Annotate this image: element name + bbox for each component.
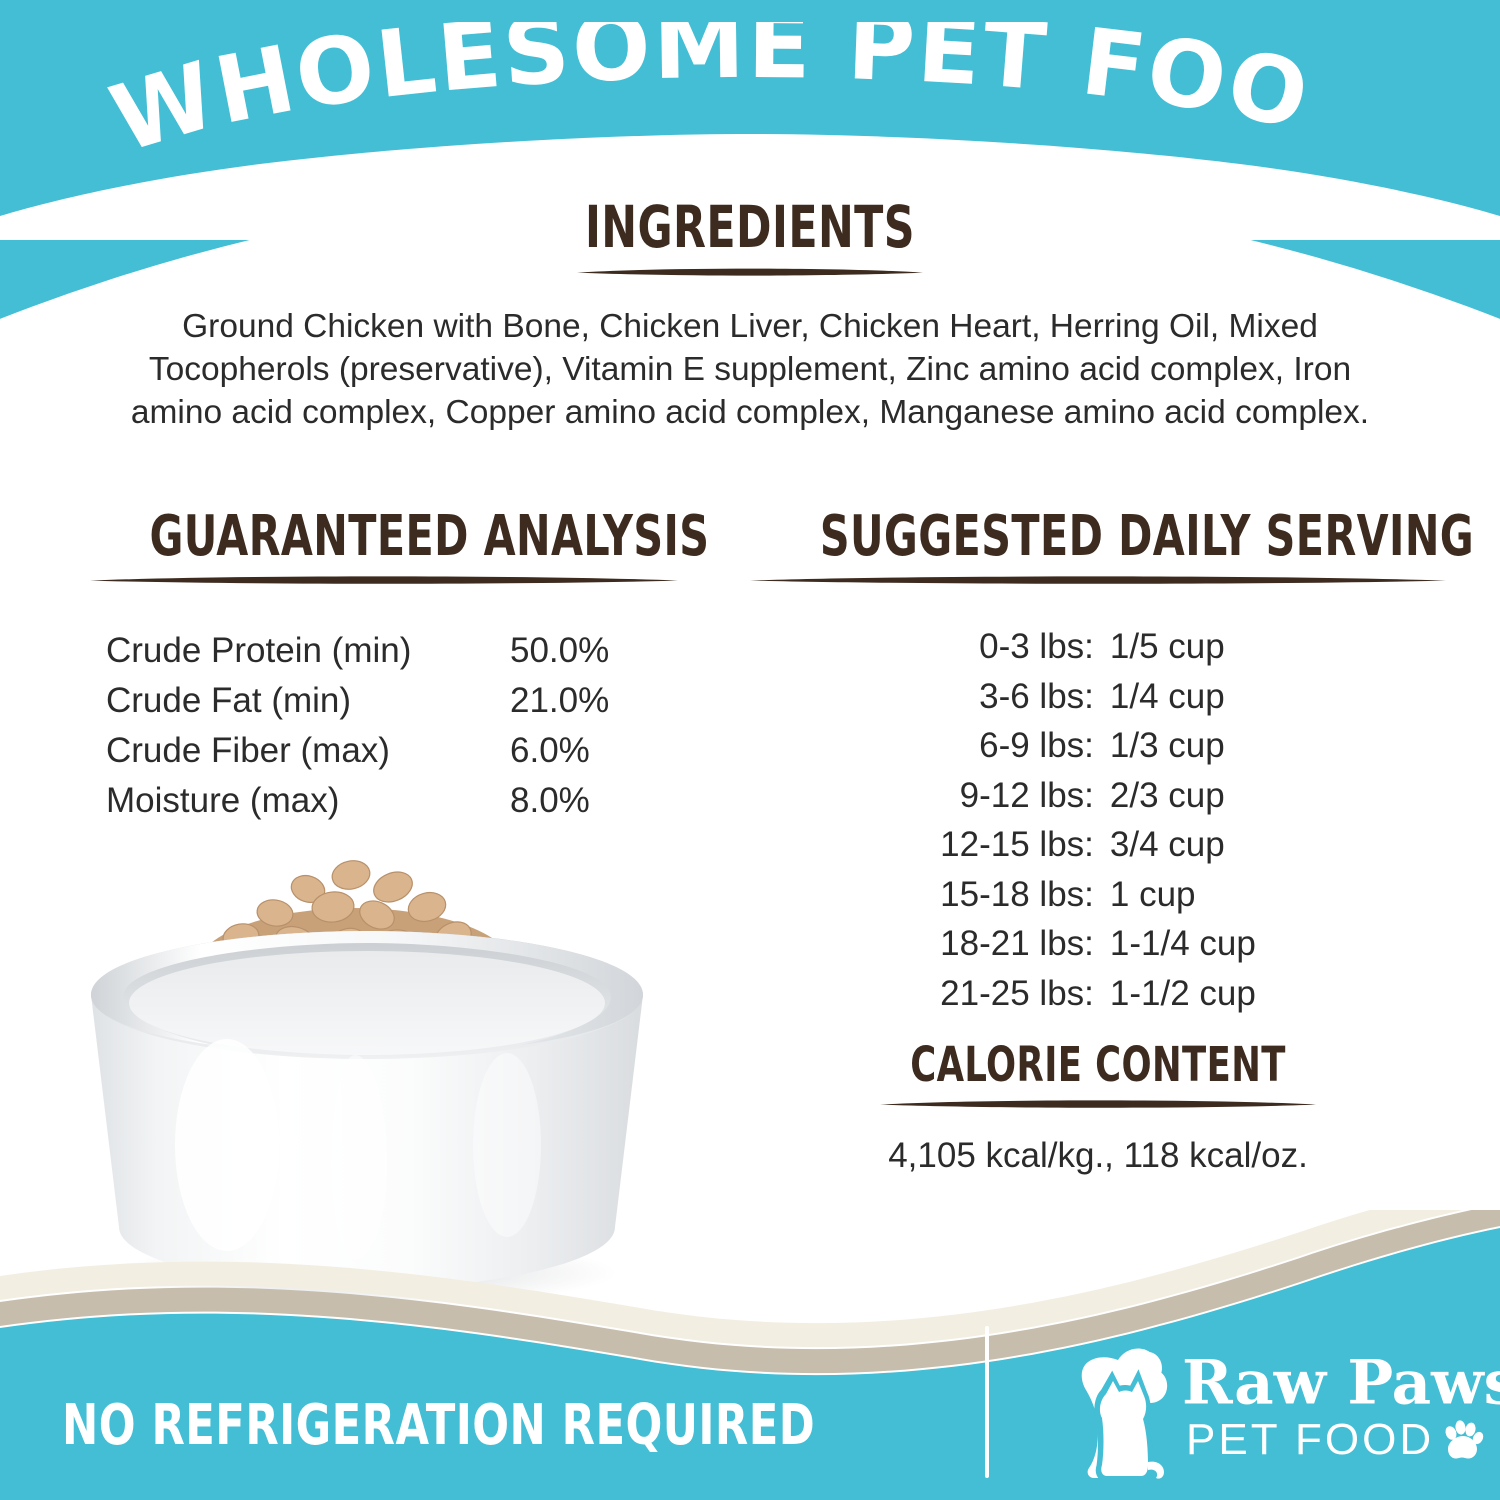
brand-name: Raw Paws®	[1182, 1344, 1500, 1415]
page-title-arc: WHOLESOME PET FOOD	[0, 22, 1500, 154]
page-title: WHOLESOME PET FOOD	[0, 22, 1319, 154]
table-row: 12-15 lbs: 3/4 cup	[940, 820, 1256, 870]
calorie-content-brush-divider	[878, 1098, 1318, 1110]
serving-weight: 6-9 lbs:	[940, 721, 1110, 771]
serving-amount: 1-1/2 cup	[1110, 969, 1256, 1019]
calorie-content-section: CALORIE CONTENT 4,105 kcal/kg., 118 kcal…	[748, 1040, 1448, 1176]
table-row: 9-12 lbs: 2/3 cup	[940, 771, 1256, 821]
ga-value: 6.0%	[510, 726, 680, 776]
ga-label: Crude Fiber (max)	[88, 726, 510, 776]
ingredients-brush-divider	[575, 266, 925, 278]
serving-weight: 0-3 lbs:	[940, 622, 1110, 672]
suggested-daily-serving-heading-row: SUGGESTED DAILY SERVING	[748, 508, 1448, 566]
serving-amount: 2/3 cup	[1110, 771, 1256, 821]
serving-amount: 1 cup	[1110, 870, 1256, 920]
footer-divider	[985, 1326, 989, 1478]
ingredients-body: Ground Chicken with Bone, Chicken Liver,…	[100, 305, 1400, 434]
suggested-daily-serving-brush-divider	[748, 574, 1448, 586]
serving-weight: 18-21 lbs:	[940, 919, 1110, 969]
product-photo-bowl	[55, 845, 675, 1325]
guaranteed-analysis-section: GUARANTEED ANALYSIS Crude Protein (min) …	[88, 508, 680, 826]
suggested-daily-serving-section: SUGGESTED DAILY SERVING 0-3 lbs: 1/5 cup…	[748, 508, 1448, 1018]
brand-logo[interactable]: Raw Paws® PET FOOD	[1060, 1338, 1480, 1488]
pet-food-label: WHOLESOME PET FOOD INGREDIENTS Ground Ch…	[0, 0, 1500, 1500]
header-title-container: WHOLESOME PET FOOD	[0, 22, 1500, 152]
dog-cat-silhouette-icon	[1060, 1340, 1178, 1482]
table-row: Crude Fiber (max) 6.0%	[88, 726, 680, 776]
brand-tagline: PET FOOD	[1186, 1416, 1434, 1464]
serving-amount: 1/3 cup	[1110, 721, 1256, 771]
table-row: Moisture (max) 8.0%	[88, 776, 680, 826]
suggested-daily-serving-heading: SUGGESTED DAILY SERVING	[820, 508, 1474, 566]
table-row: 18-21 lbs: 1-1/4 cup	[940, 919, 1256, 969]
ingredients-heading-block: INGREDIENTS	[0, 198, 1500, 278]
guaranteed-analysis-table: Crude Protein (min) 50.0% Crude Fat (min…	[88, 626, 680, 826]
table-row: 21-25 lbs: 1-1/2 cup	[940, 969, 1256, 1019]
serving-weight: 21-25 lbs:	[940, 969, 1110, 1019]
serving-rows: 0-3 lbs: 1/5 cup 3-6 lbs: 1/4 cup 6-9 lb…	[940, 622, 1256, 1018]
table-row: 3-6 lbs: 1/4 cup	[940, 672, 1256, 722]
serving-weight: 15-18 lbs:	[940, 870, 1110, 920]
ingredients-heading: INGREDIENTS	[135, 198, 1365, 256]
ga-label: Moisture (max)	[88, 776, 510, 826]
serving-amount: 3/4 cup	[1110, 820, 1256, 870]
serving-weight: 12-15 lbs:	[940, 820, 1110, 870]
ga-label: Crude Fat (min)	[88, 676, 510, 726]
ga-value: 8.0%	[510, 776, 680, 826]
calorie-content-heading: CALORIE CONTENT	[910, 1040, 1286, 1090]
ga-label: Crude Protein (min)	[88, 626, 510, 676]
table-row: Crude Protein (min) 50.0%	[88, 626, 680, 676]
serving-amount: 1/4 cup	[1110, 672, 1256, 722]
table-row: 6-9 lbs: 1/3 cup	[940, 721, 1256, 771]
brand-name-text: Raw Paws	[1182, 1347, 1500, 1418]
serving-amount: 1/5 cup	[1110, 622, 1256, 672]
serving-table: 0-3 lbs: 1/5 cup 3-6 lbs: 1/4 cup 6-9 lb…	[940, 622, 1256, 1018]
guaranteed-analysis-brush-divider	[88, 574, 680, 586]
table-row: Crude Fat (min) 21.0%	[88, 676, 680, 726]
ga-value: 21.0%	[510, 676, 680, 726]
serving-weight: 3-6 lbs:	[940, 672, 1110, 722]
serving-weight: 9-12 lbs:	[940, 771, 1110, 821]
serving-amount: 1-1/4 cup	[1110, 919, 1256, 969]
bowl-illustration	[55, 845, 675, 1325]
ga-value: 50.0%	[510, 626, 680, 676]
guaranteed-analysis-heading-row: GUARANTEED ANALYSIS	[88, 508, 680, 566]
paw-print-icon	[1442, 1420, 1484, 1462]
guaranteed-analysis-rows: Crude Protein (min) 50.0% Crude Fat (min…	[88, 626, 680, 826]
table-row: 0-3 lbs: 1/5 cup	[940, 622, 1256, 672]
no-refrigeration-claim: NO REFRIGERATION REQUIRED	[62, 1396, 815, 1456]
calorie-content-value: 4,105 kcal/kg., 118 kcal/oz.	[748, 1136, 1448, 1176]
guaranteed-analysis-heading: GUARANTEED ANALYSIS	[149, 508, 709, 566]
table-row: 15-18 lbs: 1 cup	[940, 870, 1256, 920]
